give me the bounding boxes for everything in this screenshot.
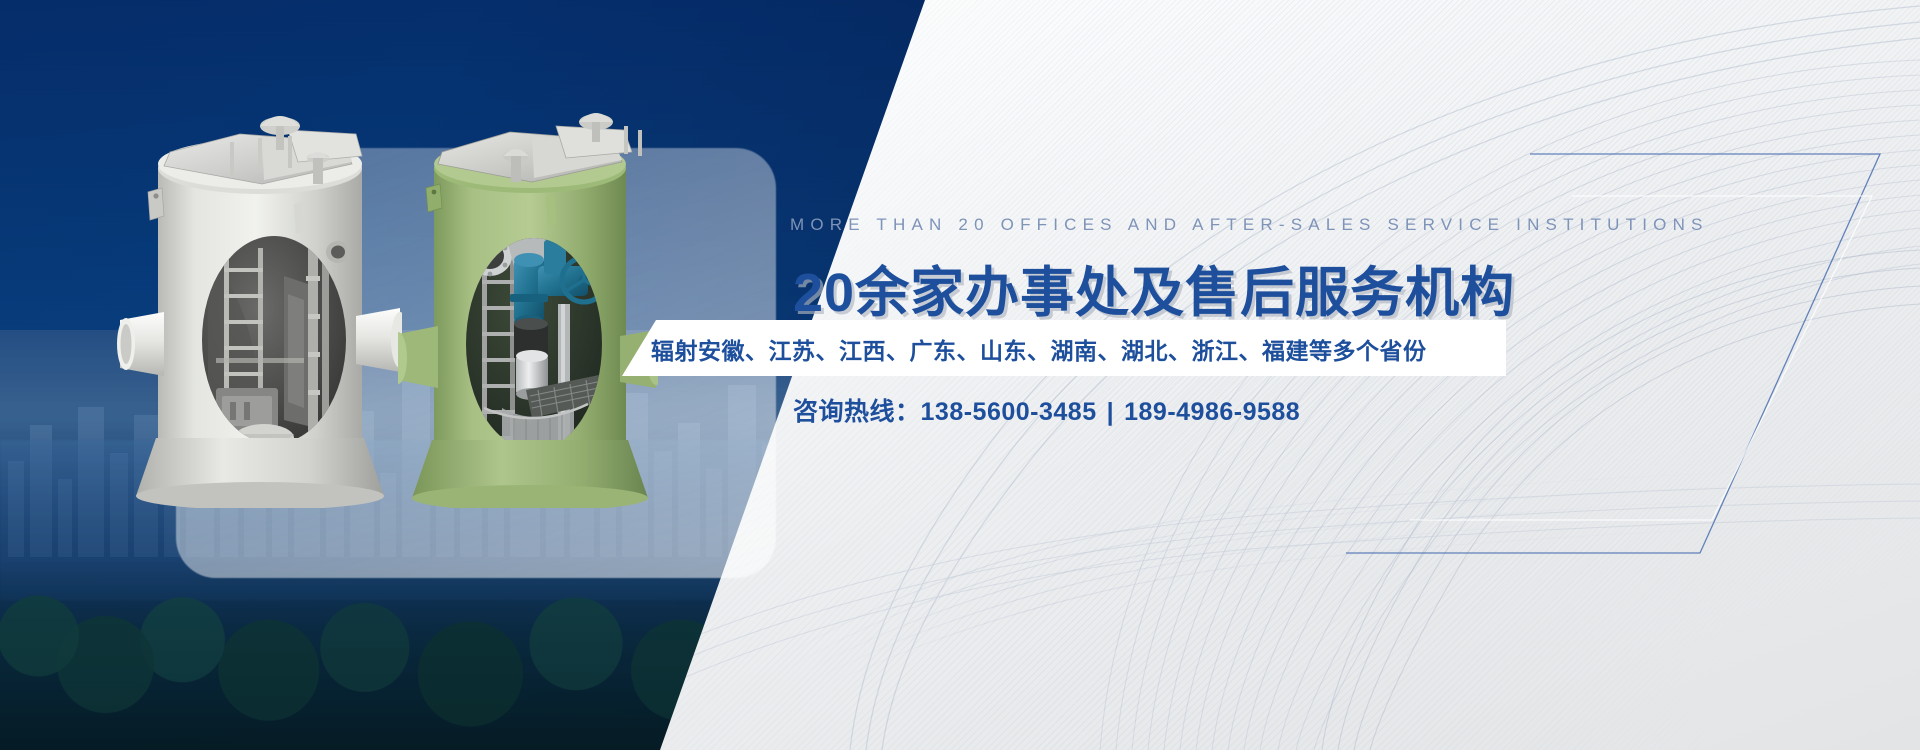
hotline-secondary-number[interactable]: 189-4986-9588 (1124, 398, 1300, 426)
promo-banner: MORE THAN 20 OFFICES AND AFTER-SALES SER… (0, 0, 1920, 750)
product-image-green-pump-station (398, 108, 658, 508)
hotline-row: 咨询热线：138-5600-3485|189-4986-9588 (793, 392, 1300, 428)
hotline-separator: | (1097, 398, 1125, 426)
hotline-label: 咨询热线： (793, 398, 921, 426)
hotline-primary-number[interactable]: 138-5600-3485 (921, 398, 1097, 426)
product-image-grey-pump-station (112, 108, 402, 508)
eyebrow-english-text: MORE THAN 20 OFFICES AND AFTER-SALES SER… (790, 215, 1709, 235)
page-title: 20余家办事处及售后服务机构 (793, 248, 1515, 327)
coverage-text: 辐射安徽、江苏、江西、广东、山东、湖南、湖北、浙江、福建等多个省份 (651, 332, 1427, 366)
